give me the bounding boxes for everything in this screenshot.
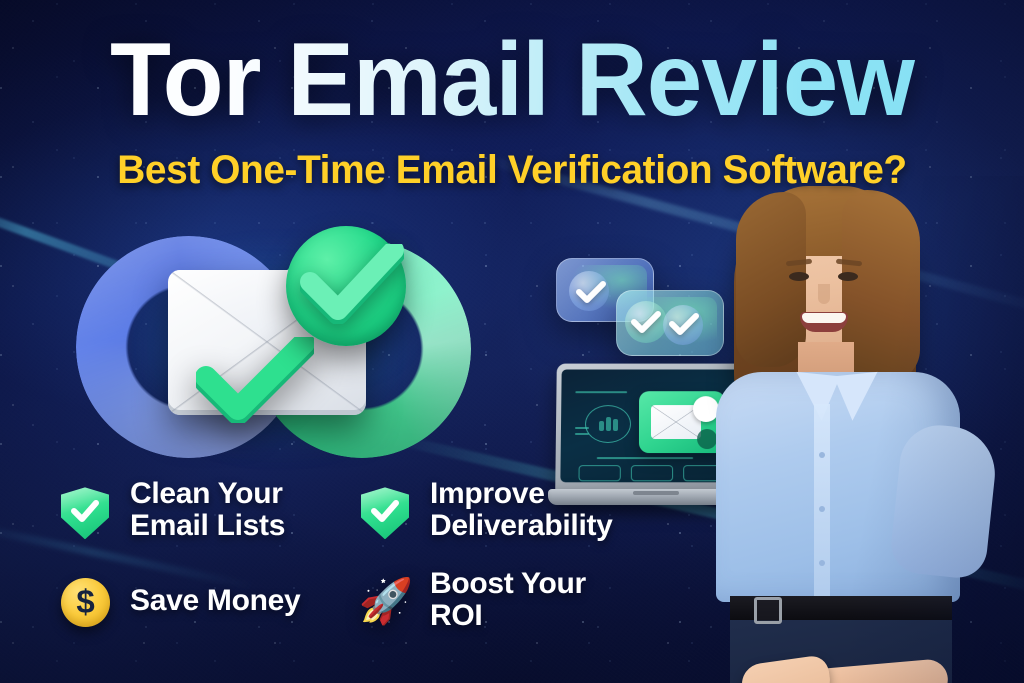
feature-label: Boost Your ROI <box>430 568 586 633</box>
page-subtitle: Best One-Time Email Verification Softwar… <box>15 150 1008 190</box>
screen-connector <box>597 457 693 459</box>
screen-bar <box>613 419 618 431</box>
laptop-notch <box>633 491 679 495</box>
feature-label: Clean Your Email Lists <box>130 478 285 543</box>
banner-image: Tor Email Review Best One-Time Email Ver… <box>0 0 1024 683</box>
green-checkmark-large-icon <box>300 244 404 324</box>
nose <box>818 284 830 304</box>
feature-item-clean-your-email-lists: Clean Your Email Lists <box>58 478 285 543</box>
screen-bar <box>599 421 604 431</box>
white-check-icon <box>576 281 606 303</box>
shirt-collar <box>834 372 883 422</box>
smiling-woman-holding-laptop <box>690 176 1024 683</box>
shirt-button <box>819 560 825 566</box>
white-check-icon <box>631 311 661 333</box>
green-checkmark-small-icon <box>196 337 314 423</box>
screen-line <box>575 433 589 435</box>
screen-bar <box>606 417 611 431</box>
eye <box>838 272 858 281</box>
right-arm <box>888 421 999 580</box>
smiling-mouth <box>800 312 848 332</box>
rocket-icon: 🚀 <box>358 571 412 629</box>
feature-item-improve-deliverability: Improve Deliverability <box>358 478 613 543</box>
shield-check-icon <box>358 481 412 539</box>
eye <box>789 272 809 281</box>
feature-item-boost-your-roi: 🚀 Boost Your ROI <box>358 568 586 633</box>
coin-shape: $ <box>61 578 110 627</box>
page-title: Tor Email Review <box>20 28 1003 132</box>
feature-item-save-money: $ Save Money <box>58 572 300 630</box>
belt-buckle <box>754 597 782 624</box>
feature-label: Save Money <box>130 585 300 617</box>
screen-line <box>575 391 627 393</box>
shirt-placket <box>814 404 830 600</box>
shield-check-icon <box>58 481 112 539</box>
dollar-coin-icon: $ <box>58 572 112 630</box>
shirt-button <box>819 506 825 512</box>
feature-label: Improve Deliverability <box>430 478 613 543</box>
check-icon <box>70 499 100 523</box>
teeth <box>802 313 846 323</box>
email-verification-infinity-icon <box>68 222 468 472</box>
screen-box <box>631 465 673 481</box>
rocket-glyph: 🚀 <box>358 575 414 629</box>
shirt-button <box>819 452 825 458</box>
check-icon <box>370 499 400 523</box>
